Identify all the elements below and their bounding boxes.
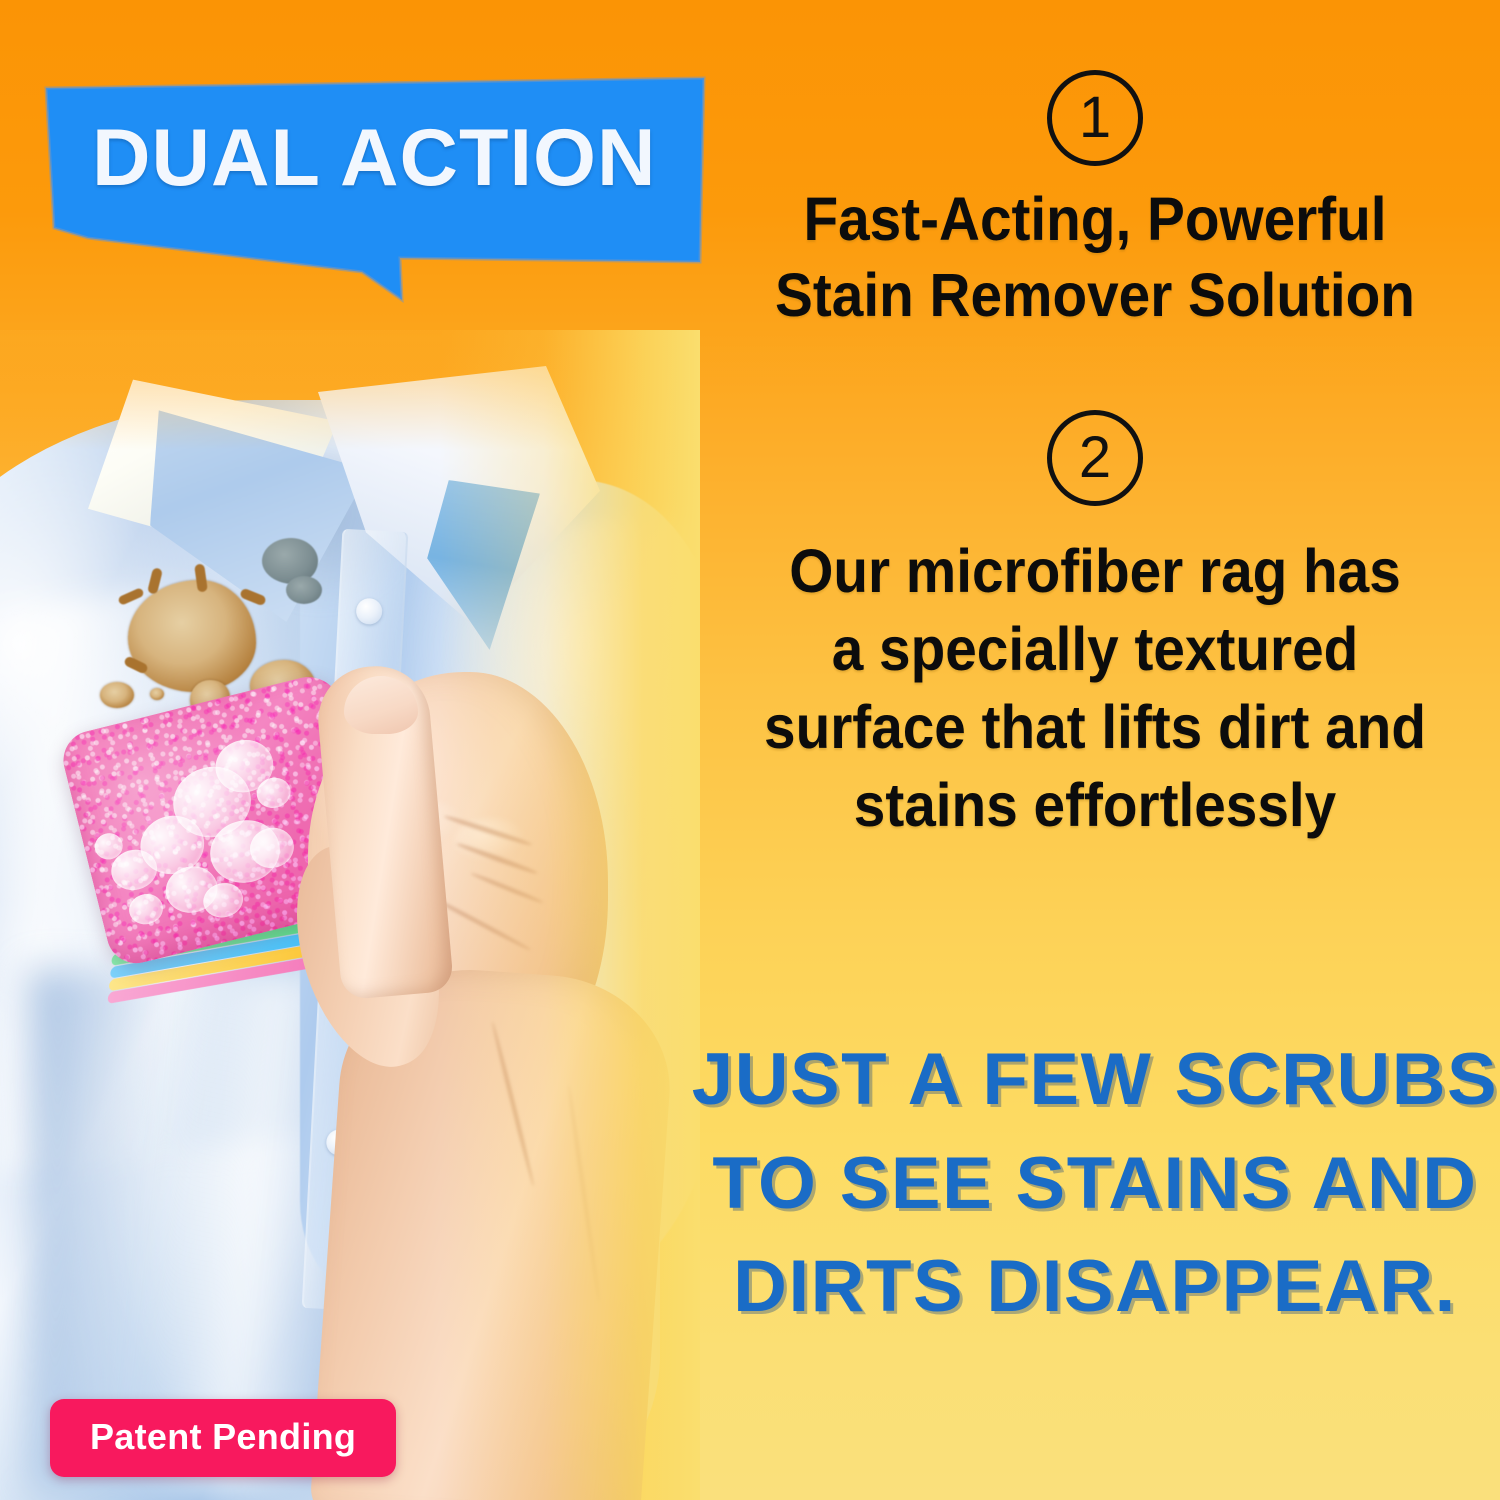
headline-line-3: DIRTS DISAPPEAR. [682, 1235, 1500, 1339]
product-photo [0, 330, 700, 1500]
step-1-line-2: Stain Remover Solution [718, 258, 1471, 334]
step-number-badge-2: 2 [1047, 410, 1143, 506]
grey-stain [286, 576, 322, 604]
coffee-stain [100, 682, 134, 708]
step-2: 2 Our microfiber rag has a specially tex… [690, 410, 1500, 844]
patent-pending-badge: Patent Pending [50, 1399, 396, 1477]
headline-line-1: JUST A FEW SCRUBS [682, 1028, 1500, 1132]
step-2-line-2: a specially textured [733, 610, 1457, 688]
coffee-stain [150, 688, 164, 700]
dual-action-label: DUAL ACTION [92, 112, 692, 205]
step-2-line-4: stains effortlessly [733, 766, 1457, 844]
step-2-line-1: Our microfiber rag has [733, 532, 1457, 610]
steps-column: 1 Fast-Acting, Powerful Stain Remover So… [690, 0, 1500, 1500]
infographic-canvas: DUAL ACTION 1 Fast-Acting, Powerful Stai… [0, 0, 1500, 1500]
shirt-button [356, 598, 383, 625]
promo-headline: JUST A FEW SCRUBS TO SEE STAINS AND DIRT… [682, 1028, 1500, 1339]
step-1-line-1: Fast-Acting, Powerful [718, 182, 1471, 258]
hand [268, 672, 700, 1500]
headline-line-2: TO SEE STAINS AND [682, 1132, 1500, 1236]
step-2-line-3: surface that lifts dirt and [733, 688, 1457, 766]
step-1-text: Fast-Acting, Powerful Stain Remover Solu… [718, 182, 1471, 333]
step-1-number-wrap: 1 [690, 70, 1500, 166]
step-1: 1 Fast-Acting, Powerful Stain Remover So… [690, 70, 1500, 333]
step-2-text: Our microfiber rag has a specially textu… [718, 532, 1471, 844]
step-2-number-wrap: 2 [690, 410, 1500, 506]
step-number-badge-1: 1 [1047, 70, 1143, 166]
coffee-stain [128, 580, 256, 692]
dual-action-banner: DUAL ACTION [44, 76, 708, 326]
